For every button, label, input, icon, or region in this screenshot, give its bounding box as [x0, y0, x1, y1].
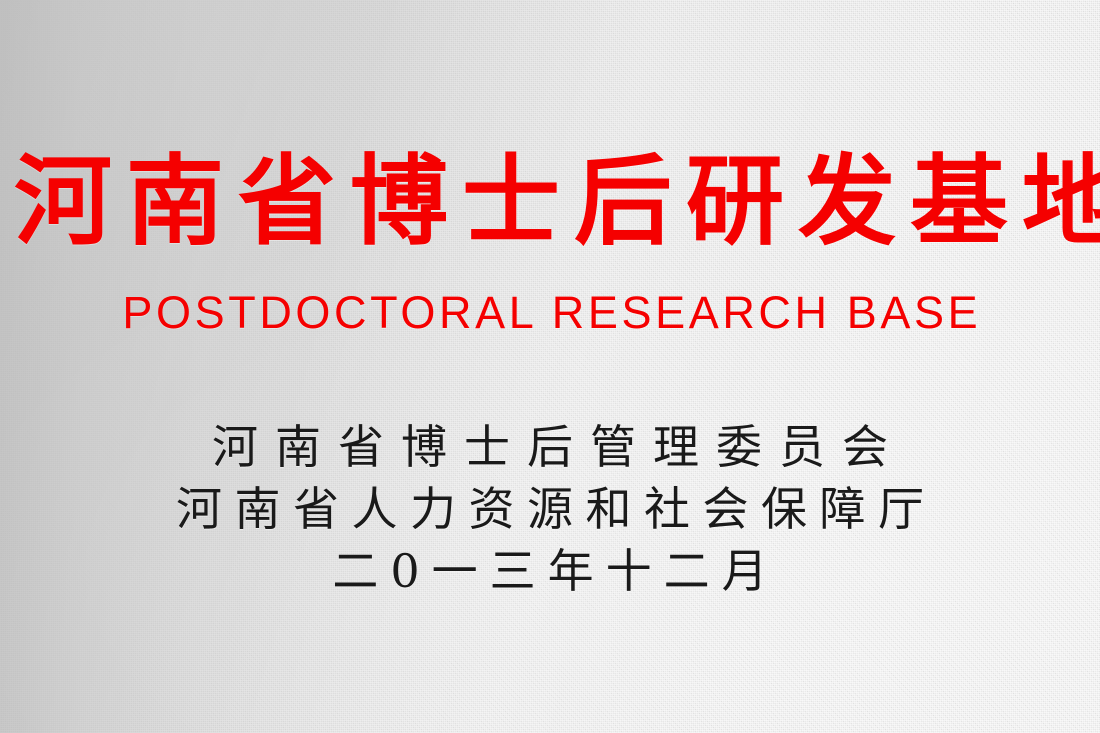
issuing-body-line-2: 河南省人力资源和社会保障厅	[0, 482, 1100, 536]
plaque-content: 河南省博士后研发基地 POSTDOCTORAL RESEARCH BASE 河南…	[0, 0, 1100, 733]
plaque-board: 河南省博士后研发基地 POSTDOCTORAL RESEARCH BASE 河南…	[0, 0, 1100, 733]
issuing-body-line-1: 河南省博士后管理委员会	[0, 420, 1100, 474]
plaque-title-chinese: 河南省博士后研发基地	[0, 150, 1100, 254]
issue-date: 二0一三年十二月	[0, 544, 1100, 598]
plaque-title-english: POSTDOCTORAL RESEARCH BASE	[0, 288, 1100, 338]
